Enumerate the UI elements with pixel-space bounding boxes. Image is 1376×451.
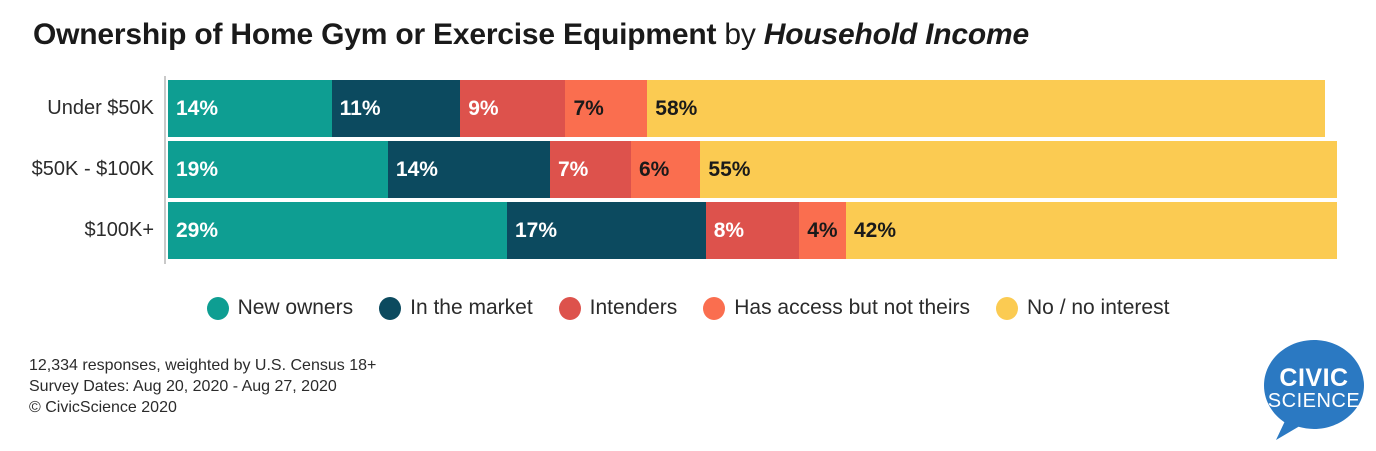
chart-container: Ownership of Home Gym or Exercise Equipm… — [0, 0, 1376, 451]
bar-segment-value: 4% — [799, 219, 837, 243]
category-label: $100K+ — [0, 202, 154, 259]
bar-segment[interactable]: 14% — [168, 80, 332, 137]
chart-title-main: Ownership of Home Gym or Exercise Equipm… — [33, 18, 716, 51]
stacked-bar: 14%11%9%7%58% — [168, 80, 1337, 137]
bar-segment[interactable]: 14% — [388, 141, 550, 198]
legend-item[interactable]: Intenders — [559, 296, 678, 320]
footnote-survey-dates: Survey Dates: Aug 20, 2020 - Aug 27, 202… — [29, 376, 376, 397]
bar-segment-value: 7% — [550, 158, 588, 182]
bar-segment-value: 42% — [846, 219, 896, 243]
chart-legend: New ownersIn the marketIntendersHas acce… — [0, 288, 1376, 328]
svg-text:SCIENCE: SCIENCE — [1268, 390, 1360, 412]
bar-segment-value: 14% — [168, 97, 218, 121]
legend-label: New owners — [238, 296, 354, 320]
legend-label: Intenders — [590, 296, 678, 320]
bar-segment-value: 58% — [647, 97, 697, 121]
footnote-responses: 12,334 responses, weighted by U.S. Censu… — [29, 355, 376, 376]
bar-segment-value: 9% — [460, 97, 498, 121]
footnote-copyright: © CivicScience 2020 — [29, 397, 376, 418]
legend-item[interactable]: New owners — [207, 296, 354, 320]
svg-text:CIVIC: CIVIC — [1279, 364, 1348, 392]
legend-item[interactable]: Has access but not theirs — [703, 296, 970, 320]
category-label: $50K - $100K — [0, 141, 154, 198]
stacked-bar: 29%17%8%4%42% — [168, 202, 1337, 259]
bar-segment[interactable]: 7% — [550, 141, 631, 198]
legend-item[interactable]: No / no interest — [996, 296, 1169, 320]
category-label: Under $50K — [0, 80, 154, 137]
bar-segment-value: 8% — [706, 219, 744, 243]
plot-area: Under $50K14%11%9%7%58%$50K - $100K19%14… — [0, 76, 1376, 266]
legend-swatch-icon — [379, 297, 401, 320]
bar-segment[interactable]: 17% — [507, 202, 706, 259]
chart-title-emphasis: Household Income — [764, 18, 1029, 51]
bar-segment[interactable]: 9% — [460, 80, 565, 137]
bar-segment[interactable]: 7% — [565, 80, 647, 137]
bar-segment-value: 11% — [332, 97, 381, 121]
bar-segment[interactable]: 6% — [631, 141, 700, 198]
chart-title-connector: by — [716, 18, 764, 51]
legend-swatch-icon — [559, 297, 581, 320]
stacked-bar: 19%14%7%6%55% — [168, 141, 1337, 198]
legend-label: No / no interest — [1027, 296, 1169, 320]
chart-title: Ownership of Home Gym or Exercise Equipm… — [33, 18, 1029, 52]
legend-swatch-icon — [996, 297, 1018, 320]
bar-segment[interactable]: 58% — [647, 80, 1325, 137]
bar-segment-value: 7% — [565, 97, 603, 121]
bar-segment-value: 17% — [507, 219, 557, 243]
legend-item[interactable]: In the market — [379, 296, 533, 320]
bar-row: Under $50K14%11%9%7%58% — [0, 80, 1376, 137]
bar-segment-value: 14% — [388, 158, 438, 182]
civicscience-logo: CIVIC SCIENCE — [1258, 334, 1370, 446]
bar-segment[interactable]: 8% — [706, 202, 800, 259]
legend-swatch-icon — [703, 297, 725, 320]
bar-row: $50K - $100K19%14%7%6%55% — [0, 141, 1376, 198]
bar-row: $100K+29%17%8%4%42% — [0, 202, 1376, 259]
bar-segment-value: 55% — [700, 158, 750, 182]
bar-segment[interactable]: 42% — [846, 202, 1337, 259]
bar-segment-value: 29% — [168, 219, 218, 243]
bar-segment-value: 6% — [631, 158, 669, 182]
bar-segment-value: 19% — [168, 158, 218, 182]
chart-footnote: 12,334 responses, weighted by U.S. Censu… — [29, 355, 376, 418]
legend-swatch-icon — [207, 297, 229, 320]
bar-segment[interactable]: 19% — [168, 141, 388, 198]
legend-label: In the market — [410, 296, 533, 320]
bar-segment[interactable]: 55% — [700, 141, 1337, 198]
legend-label: Has access but not theirs — [734, 296, 970, 320]
logo-speech-bubble-icon: CIVIC SCIENCE — [1258, 334, 1370, 446]
bar-segment[interactable]: 29% — [168, 202, 507, 259]
bar-segment[interactable]: 11% — [332, 80, 461, 137]
bar-segment[interactable]: 4% — [799, 202, 846, 259]
